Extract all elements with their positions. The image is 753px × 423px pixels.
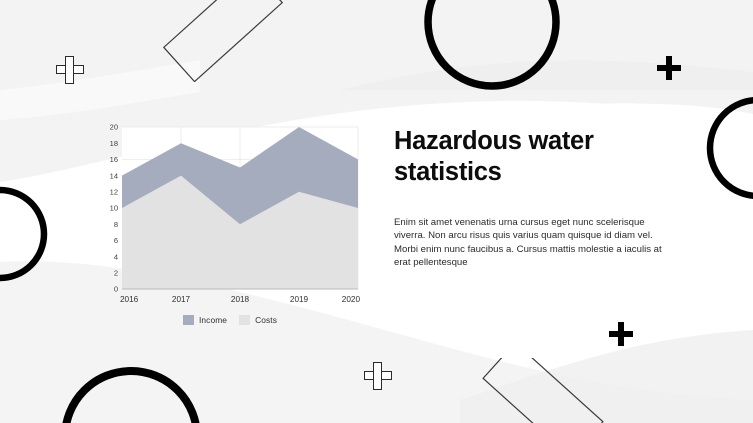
plus-vertical-bar xyxy=(666,56,672,80)
chart-plot-area: 0246810121416182020162017201820192020 xyxy=(100,119,360,315)
svg-text:4: 4 xyxy=(114,252,118,261)
circle-bottom-left-icon xyxy=(56,362,206,423)
svg-text:8: 8 xyxy=(114,220,118,229)
plus-bottom-right-icon xyxy=(609,322,633,346)
plus-top-left-icon xyxy=(56,56,82,82)
svg-text:6: 6 xyxy=(114,236,118,245)
legend-item-costs[interactable]: Costs xyxy=(239,315,277,325)
svg-text:16: 16 xyxy=(110,155,118,164)
legend-item-income[interactable]: Income xyxy=(183,315,227,325)
plus-vertical-bar xyxy=(65,56,74,84)
page-title: Hazardous water statistics xyxy=(394,126,662,188)
slide-canvas: 0246810121416182020162017201820192020 In… xyxy=(0,0,753,423)
legend-swatch-costs xyxy=(239,315,250,325)
circle-left-icon xyxy=(0,182,52,286)
svg-text:14: 14 xyxy=(110,171,118,180)
svg-text:2016: 2016 xyxy=(120,295,139,304)
circle-right-icon xyxy=(702,92,753,204)
text-column: Hazardous water statistics Enim sit amet… xyxy=(394,126,662,270)
rect-outline-top-icon xyxy=(150,0,290,82)
area-chart: 0246810121416182020162017201820192020 In… xyxy=(100,119,360,334)
plus-bottom-center-icon xyxy=(364,362,390,388)
svg-text:0: 0 xyxy=(114,285,118,294)
svg-text:20: 20 xyxy=(110,123,118,132)
svg-text:12: 12 xyxy=(110,188,118,197)
legend-swatch-income xyxy=(183,315,194,325)
rect-outline-bottom-icon xyxy=(470,358,610,423)
plus-vertical-bar xyxy=(618,322,624,346)
plus-top-right-icon xyxy=(657,56,681,80)
svg-text:2018: 2018 xyxy=(231,295,250,304)
svg-text:2019: 2019 xyxy=(290,295,309,304)
legend-label: Income xyxy=(199,315,227,325)
svg-text:10: 10 xyxy=(110,204,118,213)
svg-text:2020: 2020 xyxy=(342,295,360,304)
plus-vertical-bar xyxy=(373,362,382,390)
legend-label: Costs xyxy=(255,315,277,325)
svg-text:18: 18 xyxy=(110,139,118,148)
chart-legend: IncomeCosts xyxy=(100,315,360,325)
svg-text:2: 2 xyxy=(114,269,118,278)
svg-text:2017: 2017 xyxy=(172,295,191,304)
circle-top-center-icon xyxy=(418,0,566,96)
body-paragraph: Enim sit amet venenatis urna cursus eget… xyxy=(394,188,662,270)
